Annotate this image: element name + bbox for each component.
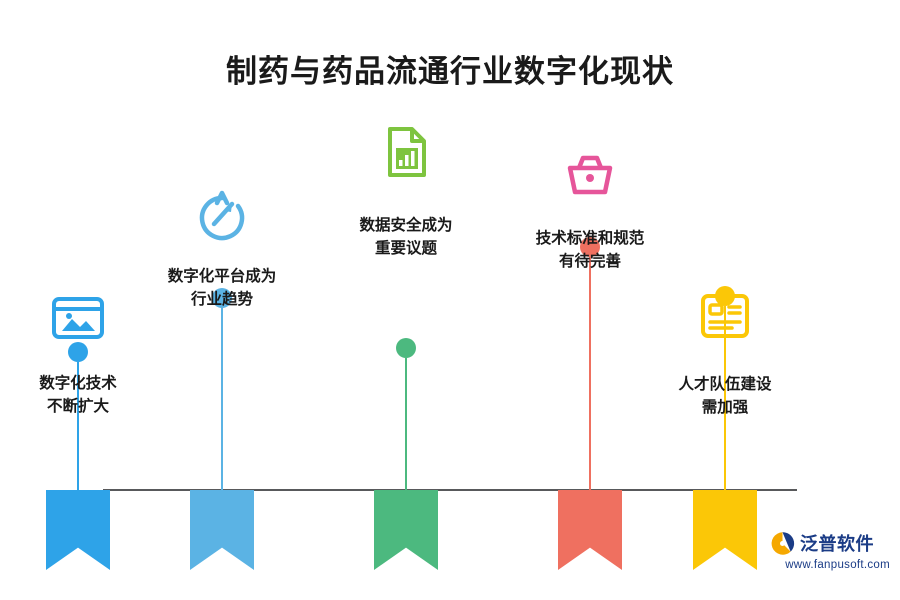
milestone-stem-3: [405, 358, 407, 490]
milestone-item-5: 人才队伍建设 需加强: [625, 0, 825, 600]
milestone-dot-3: [396, 338, 416, 358]
timer-rocket-icon: [194, 188, 250, 244]
milestone-ribbon-1: [46, 490, 110, 570]
milestone-ribbon-4: [558, 490, 622, 570]
milestone-label-2: 数字化平台成为 行业趋势: [122, 265, 322, 312]
milestone-ribbon-2: [190, 490, 254, 570]
milestone-label-2-line1: 数字化平台成为: [122, 265, 322, 288]
chart-file-icon: [378, 124, 434, 180]
milestone-item-3: 数据安全成为 重要议题: [306, 0, 506, 600]
milestone-label-2-line2: 行业趋势: [122, 288, 322, 311]
milestone-label-3-line1: 数据安全成为: [306, 214, 506, 237]
milestone-ribbon-3: [374, 490, 438, 570]
logo-brand-text: 泛普软件: [800, 530, 874, 556]
milestone-label-5-line2: 需加强: [625, 396, 825, 419]
milestone-ribbon-5: [693, 490, 757, 570]
logo-mark-icon: [770, 531, 795, 556]
milestone-item-2: 数字化平台成为 行业趋势: [122, 0, 322, 600]
milestone-dot-1: [68, 342, 88, 362]
open-box-icon: [562, 146, 618, 202]
milestone-label-5: 人才队伍建设 需加强: [625, 373, 825, 420]
milestone-label-3: 数据安全成为 重要议题: [306, 214, 506, 261]
milestone-label-5-line1: 人才队伍建设: [625, 373, 825, 396]
image-card-icon: [50, 290, 106, 346]
logo-url-text: www.fanpusoft.com: [770, 559, 890, 571]
infographic-canvas: 制药与药品流通行业数字化现状 数字化技术 不断扩大: [0, 0, 900, 600]
brand-logo: 泛普软件 www.fanpusoft.com: [770, 530, 890, 582]
milestone-dot-5: [715, 286, 735, 306]
milestone-stem-4: [589, 257, 591, 490]
milestone-label-3-line2: 重要议题: [306, 237, 506, 260]
milestone-stem-2: [221, 308, 223, 490]
